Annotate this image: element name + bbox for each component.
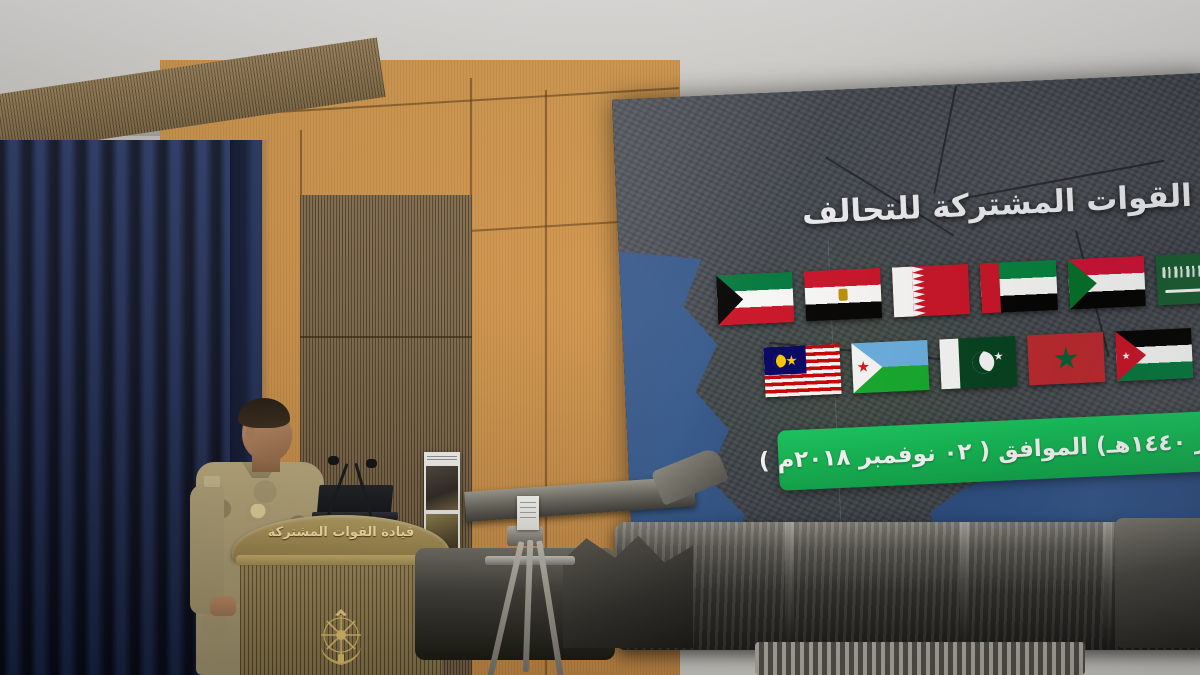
missile-ring-1 <box>785 522 794 650</box>
microphone-head-right <box>366 459 377 468</box>
flag-pakistan <box>939 336 1017 389</box>
flag-united-arab-emirates <box>980 260 1058 313</box>
exhibit-placard-text <box>520 502 536 522</box>
officer-left-arm <box>190 484 224 614</box>
exhibit-placard <box>517 496 539 530</box>
missile-corrugated-duct <box>755 642 1085 675</box>
missile-forward-section <box>1115 518 1200 648</box>
podium-label: قيادة القوات المشتركة <box>232 525 450 540</box>
flag-saudi-sword <box>1165 287 1200 293</box>
flag-jordan <box>1115 328 1193 381</box>
flag-sudan <box>1068 256 1146 309</box>
flag-saudi-shahada <box>1162 264 1200 278</box>
flag-morocco-pentagram <box>1054 346 1079 371</box>
flag-egypt <box>804 268 882 321</box>
military-emblem-icon <box>307 607 375 669</box>
officer-hair <box>238 398 290 428</box>
flag-morocco <box>1027 332 1105 385</box>
missile-ring-3 <box>1103 522 1112 650</box>
missile-fuselage <box>615 522 1200 650</box>
flag-jordan-star <box>1122 352 1130 360</box>
dark-wood-column-seam <box>300 336 472 338</box>
flag-malaysia <box>763 344 841 397</box>
poster-caption-lines <box>427 456 457 462</box>
officer-shoulder-patch <box>204 476 220 487</box>
microphone-head-left <box>328 456 339 465</box>
officer-ear <box>246 426 255 439</box>
flag-saudi-arabia <box>1156 252 1200 305</box>
flag-djibouti-star <box>857 361 870 374</box>
missile-debris-exhibit <box>455 470 1200 675</box>
flag-bahrain <box>892 264 970 317</box>
screenshot-root: ة القوات المشتركة للتحالف <box>0 0 1200 675</box>
flag-pakistan-star <box>994 352 1003 361</box>
missile-ring-2 <box>960 522 969 650</box>
flag-djibouti <box>851 340 929 393</box>
poster-photo-top <box>426 466 458 510</box>
date-banner-text: (٢٤ صفر ١٤٤٠هـ) الموافق ( ٠٢ نوفمبر ٢٠١٨… <box>758 424 1200 474</box>
flag-pakistan-crescent <box>972 351 995 374</box>
flag-kuwait <box>716 272 794 325</box>
